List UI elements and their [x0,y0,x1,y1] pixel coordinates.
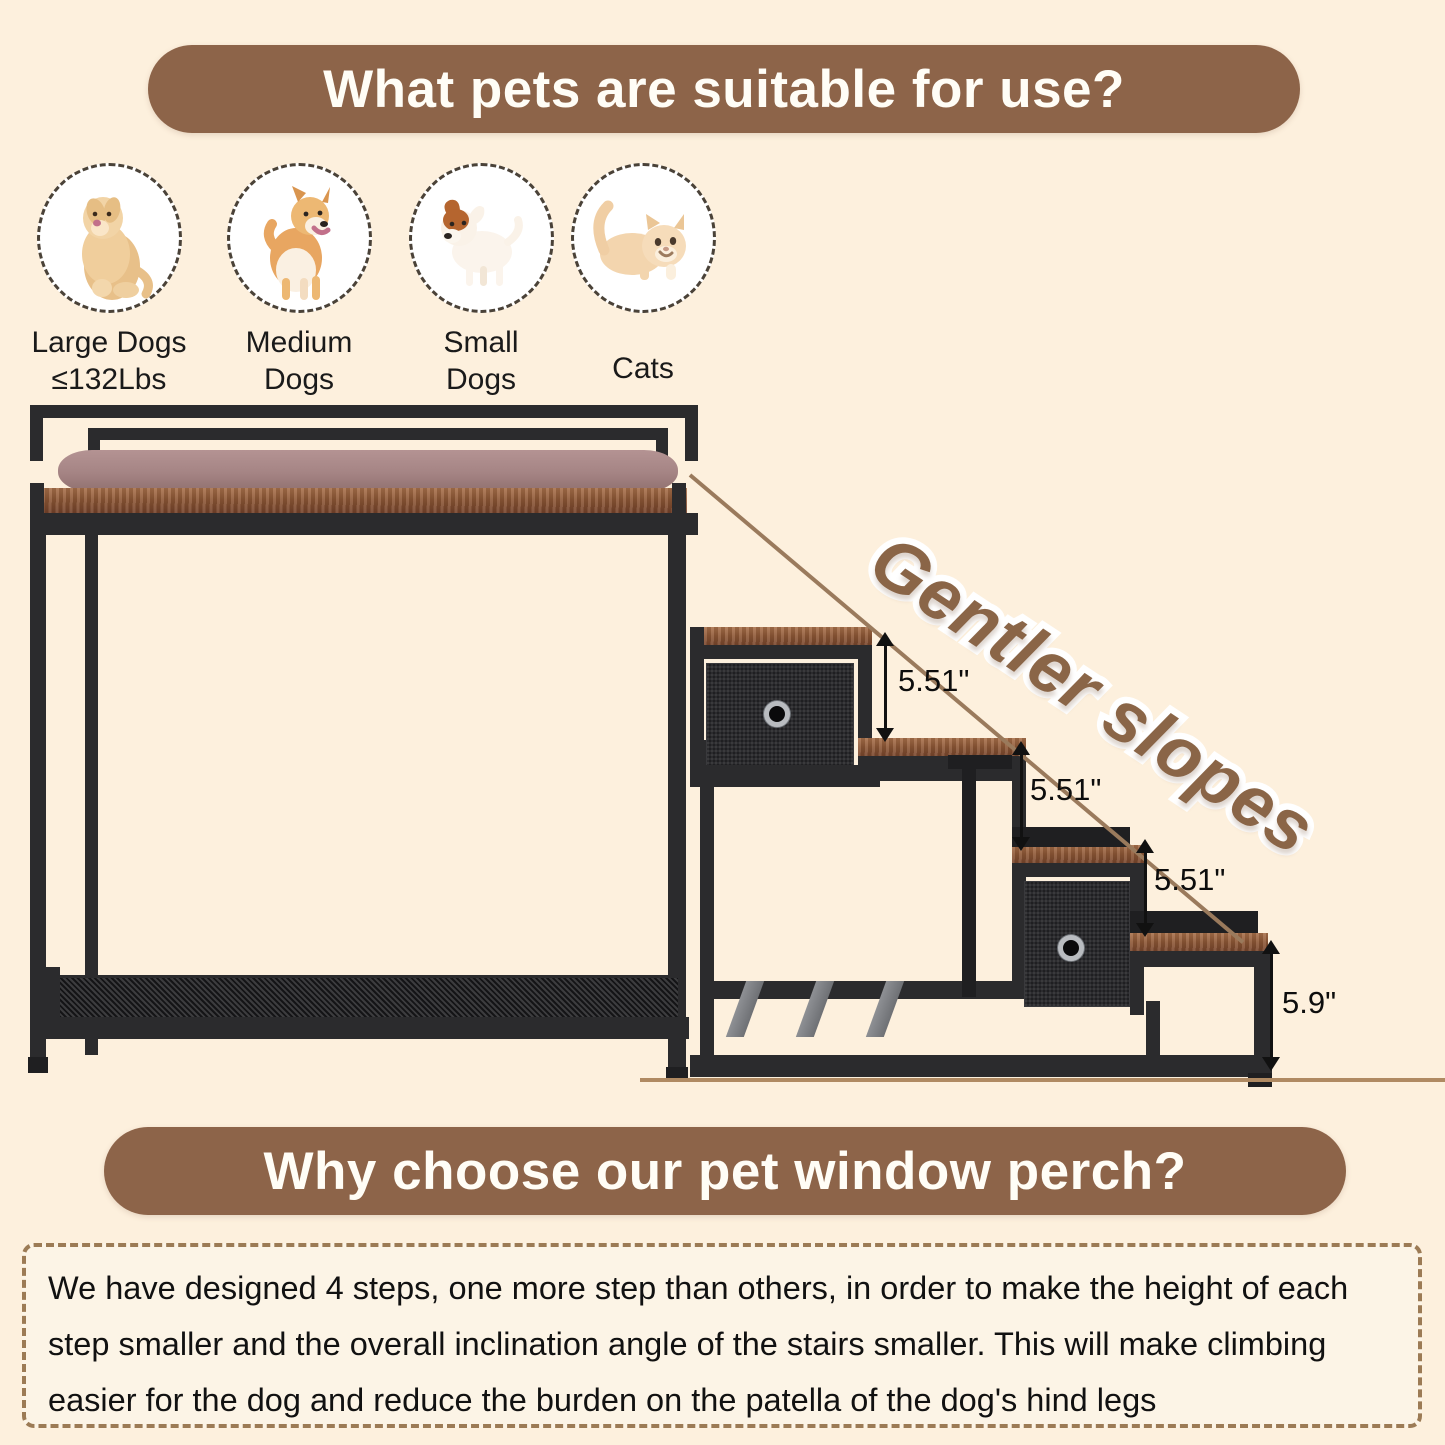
step-4-tread-frame [1130,951,1268,967]
perch-leg-back-right [700,740,714,1073]
pet-card-cats: Cats [552,163,734,388]
dim-1-label: 5.51" [898,663,969,699]
pet-card-medium-dogs: Medium Dogs [208,163,390,398]
pet-label-large-dogs: Large Dogs ≤132Lbs [18,325,200,398]
dim-3-line [1144,848,1147,932]
small-dog-icon [409,163,554,313]
pet-label-cats: Cats [552,351,734,388]
dim-3-arrow-down [1136,923,1154,937]
mesh-shelf-front-rail [44,1017,689,1039]
perch-foot-left [28,1057,48,1073]
dim-4-arrow-down [1262,1057,1280,1071]
dim-2-line [1020,750,1023,846]
stairs-base-rail [690,1055,1272,1077]
pet-label-small-dogs: Small Dogs [390,325,572,398]
infographic-root: What pets are suitable for use? [0,0,1445,1445]
dim-1-arrow-down [876,728,894,742]
perch-wood-platform [42,488,687,515]
description-text: We have designed 4 steps, one more step … [48,1261,1396,1429]
dim-3-label: 5.51" [1154,862,1225,898]
dim-4-label: 5.9" [1282,985,1336,1021]
dim-1-line [884,641,887,737]
step-1-left-post [690,627,704,777]
step-2-inner-ledge [948,755,1012,769]
cat-icon [571,163,716,313]
bottom-banner: Why choose our pet window perch? [104,1127,1346,1215]
step-3-tread-frame [1012,863,1144,877]
ground-line [640,1078,1445,1082]
dim-4-line [1270,949,1273,1061]
perch-top-rail [30,405,698,418]
storage-bin-lower-grommet-icon[interactable] [1058,935,1084,961]
pet-card-large-dogs: Large Dogs ≤132Lbs [18,163,200,398]
dim-2-label: 5.51" [1030,772,1101,808]
description-panel: We have designed 4 steps, one more step … [22,1243,1422,1428]
pet-card-small-dogs: Small Dogs [390,163,572,398]
dim-2-arrow-down [1012,837,1030,851]
large-dog-icon [37,163,182,313]
perch-top-rail-right [685,405,698,461]
pet-category-row: Large Dogs ≤132Lbs [0,163,1445,403]
perch-platform-frame [30,513,698,535]
step-1-tread-frame [690,645,872,659]
mesh-shelf-left-rail [44,967,60,1031]
bottom-mesh-shelf [56,975,681,1023]
step-2-inner-post [962,761,976,997]
perch-top-rail-left [30,405,43,461]
perch-inner-rail [88,428,668,440]
seat-cushion [58,450,678,492]
top-banner: What pets are suitable for use? [148,45,1300,133]
storage-bin-upper-grommet-icon[interactable] [764,701,790,727]
pet-label-medium-dogs: Medium Dogs [208,325,390,398]
medium-dog-icon [227,163,372,313]
